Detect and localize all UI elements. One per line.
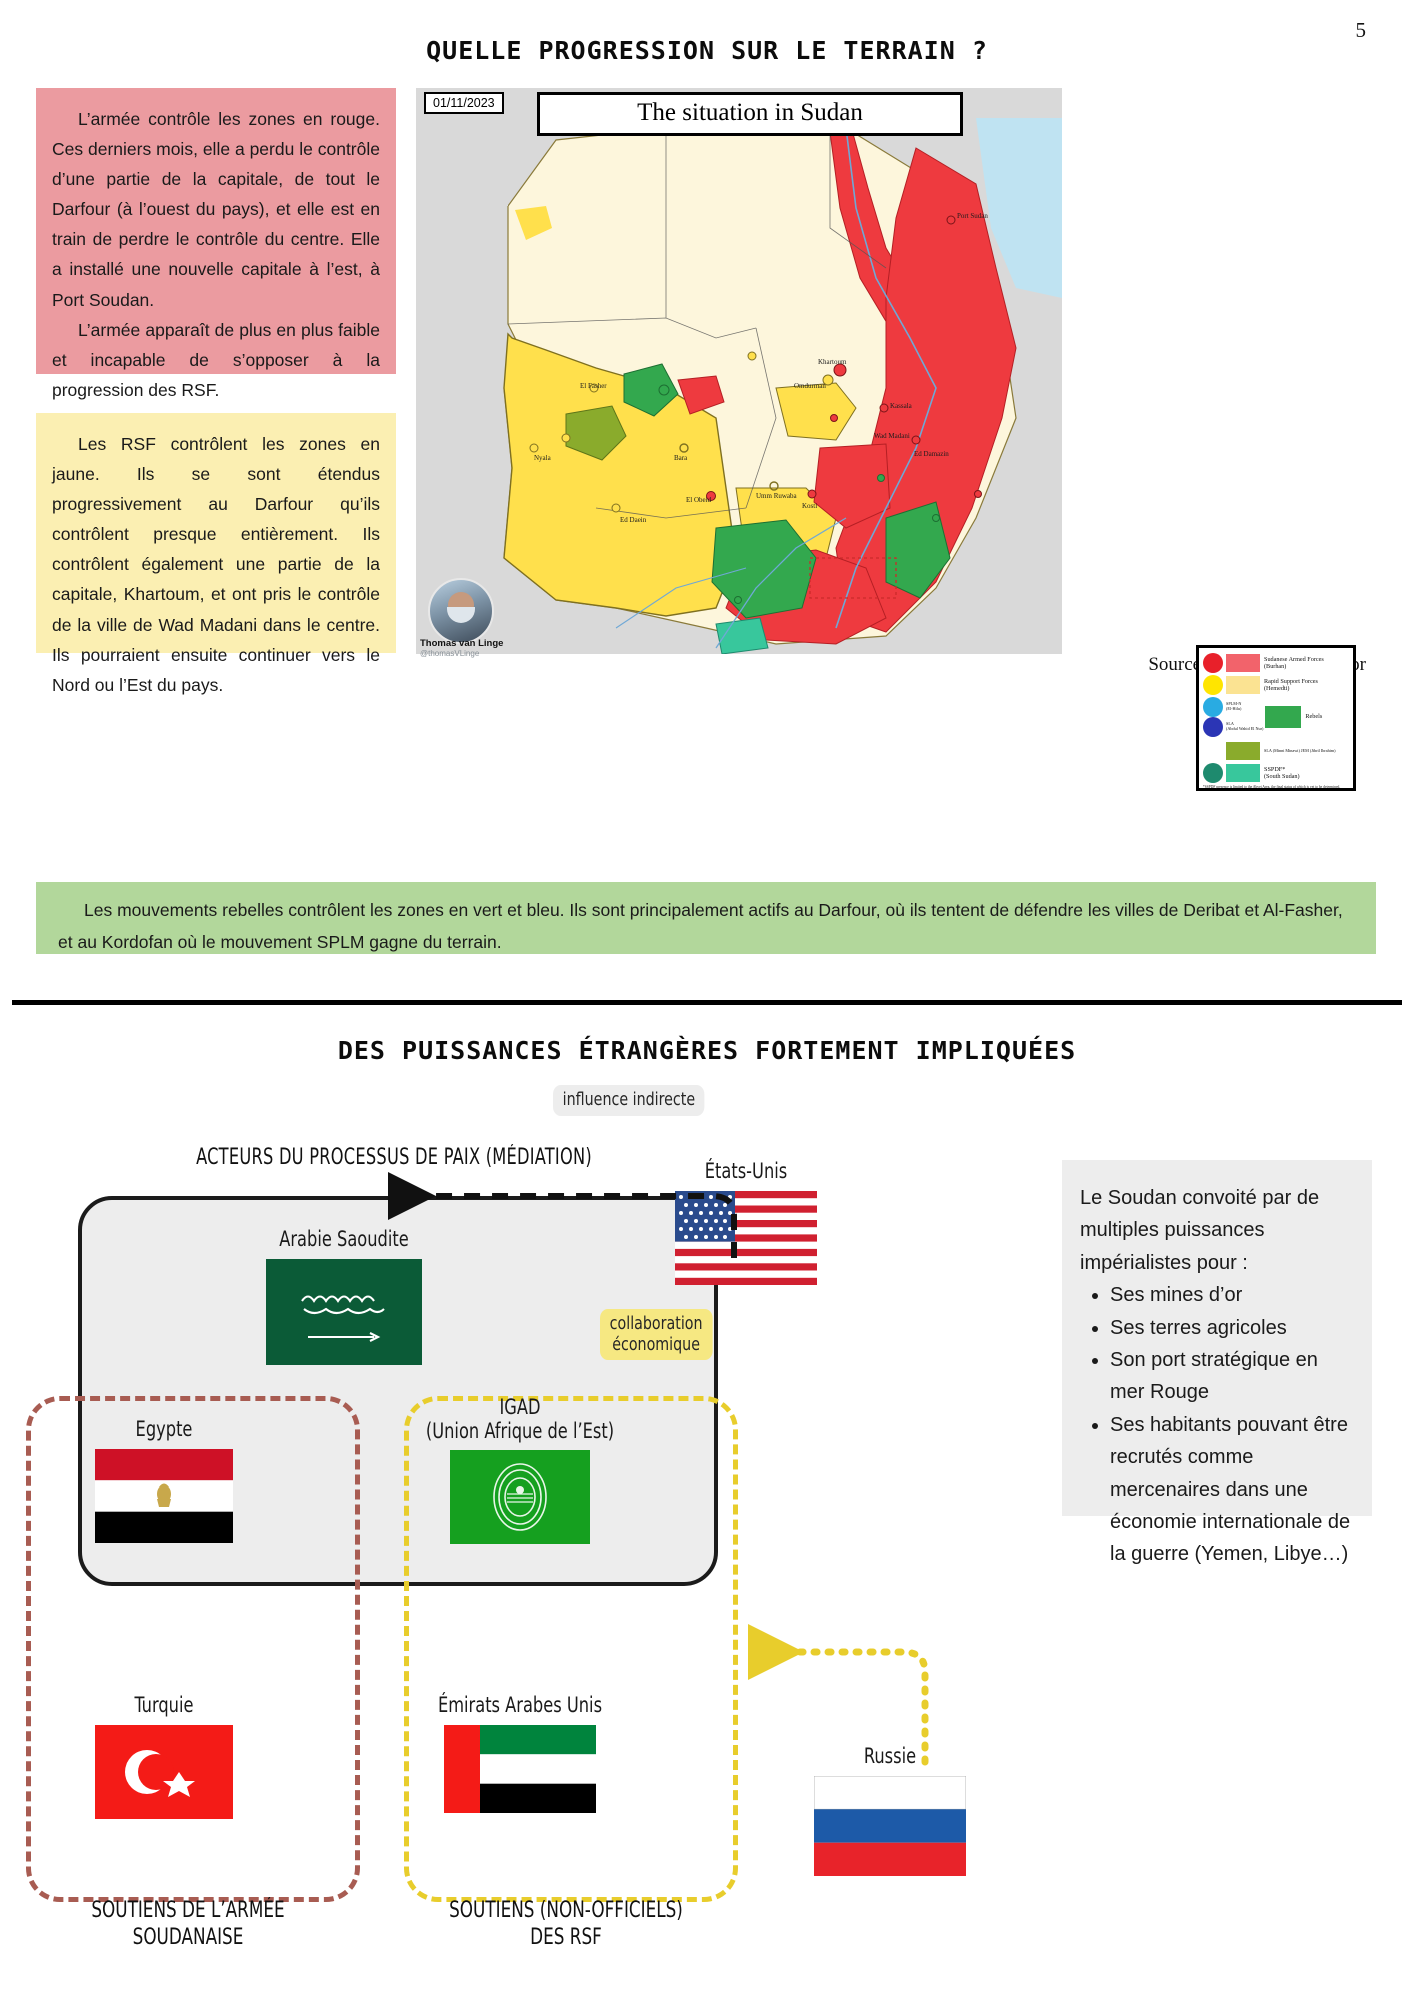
legend-row-sla-awn: SLA (Abdul Wahid El Nur)	[1203, 717, 1263, 737]
legend-sla-jem-title: SLA	[1264, 748, 1272, 753]
svg-text:Port Sudan: Port Sudan	[957, 212, 988, 220]
legend-dot-sla-awn	[1203, 717, 1223, 737]
sudan-situation-map[interactable]: Port Sudan Khartoum Omdurman Kassala Wad…	[416, 88, 1062, 654]
list-item: Son port stratégique en mer Rouge	[1110, 1344, 1356, 1409]
army-control-textbox: L’armée contrôle les zones en rouge. Ces…	[36, 88, 396, 374]
list-item: Ses terres agricoles	[1110, 1312, 1356, 1344]
legend-label-splmn: SPLM-N (El-Hilu)	[1226, 702, 1241, 712]
svg-text:Wad Madani: Wad Madani	[874, 432, 910, 440]
legend-label-sspdf: SSPDF* (South Sudan)	[1264, 766, 1300, 781]
list-item: Ses habitants pouvant être recrutés comm…	[1110, 1409, 1356, 1571]
nation-label-igad: IGAD (Union Afrique de l’Est)	[420, 1396, 620, 1443]
panel-bullet-list: Ses mines d’or Ses terres agricoles Son …	[1080, 1279, 1356, 1571]
avatar	[428, 578, 494, 644]
legend-swatch-sspdf	[1226, 764, 1260, 782]
svg-text:Kosti: Kosti	[802, 502, 817, 510]
section-divider	[12, 1000, 1402, 1005]
legend-label-sla-jem: SLA (Minni Minawi) JEM (Jibril Ibrahim)	[1264, 749, 1336, 754]
legend-sla-jem-sub: (Minni Minawi) JEM (Jibril Ibrahim)	[1273, 748, 1336, 753]
map-graphic: Port Sudan Khartoum Omdurman Kassala Wad…	[416, 88, 1062, 654]
list-item: Ses mines d’or	[1110, 1279, 1356, 1311]
flag-turkey-graphic	[95, 1725, 233, 1819]
army-supporters-caption: SOUTIENS DE L’ARMÉESOUDANAISE	[52, 1898, 324, 1952]
flag-russia	[814, 1776, 966, 1876]
map-author-handle: @thomasVLinge	[420, 649, 503, 658]
svg-text:Khartoum: Khartoum	[818, 358, 847, 366]
section2-title: DES PUISSANCES ÉTRANGÈRES FORTEMENT IMPL…	[0, 1036, 1414, 1065]
arrow-label-collaboration: collaboration économique	[600, 1309, 712, 1360]
svg-text:Kassala: Kassala	[890, 402, 913, 410]
map-legend: Sudanese Armed Forces (Burhan) Rapid Sup…	[1196, 645, 1356, 791]
legend-splmn-sub: (El-Hilu)	[1226, 706, 1241, 711]
flag-egypt-graphic	[95, 1449, 233, 1543]
map-title: The situation in Sudan	[537, 92, 963, 136]
rebels-control-textbox: Les mouvements rebelles contrôlent les z…	[36, 882, 1376, 954]
legend-label-rsf: Rapid Support Forces (Hemedti)	[1264, 678, 1318, 693]
legend-dot-rsf	[1203, 675, 1223, 695]
nation-saudi-arabia: Arabie Saoudite	[224, 1228, 464, 1365]
legend-footnote: *SSPDF presence is limited to the Abyei …	[1203, 785, 1349, 789]
legend-row-splmn: SPLM-N (El-Hilu)	[1203, 697, 1263, 717]
imperialist-interests-panel: Le Soudan convoité par de multiples puis…	[1062, 1160, 1372, 1516]
legend-row-sspdf: SSPDF* (South Sudan)	[1203, 763, 1349, 783]
legend-row-rsf: Rapid Support Forces (Hemedti)	[1203, 675, 1349, 695]
nation-usa: États-Unis	[620, 1160, 872, 1285]
avatar-mask	[447, 607, 475, 623]
legend-swatch-saf	[1226, 654, 1260, 672]
legend-swatch-sla-jem	[1226, 742, 1260, 760]
legend-sla-awn-sub: (Abdul Wahid El Nur)	[1226, 726, 1263, 731]
flag-usa-graphic	[675, 1191, 817, 1285]
legend-label-rebels: Rebels	[1305, 713, 1322, 720]
panel-intro: Le Soudan convoité par de multiples puis…	[1080, 1182, 1356, 1279]
nation-russia: Russie	[770, 1745, 1010, 1876]
svg-text:Umm Ruwaba: Umm Ruwaba	[756, 492, 798, 500]
mediation-caption: ACTEURS DU PROCESSUS DE PAIX (MÉDIATION)	[135, 1145, 653, 1170]
nation-label-usa: États-Unis	[638, 1160, 855, 1184]
legend-dot-sspdf	[1203, 763, 1223, 783]
legend-swatch-rebels	[1265, 706, 1301, 728]
rebels-control-paragraph: Les mouvements rebelles contrôlent les z…	[58, 900, 1343, 952]
legend-saf-title: Sudanese Armed Forces	[1264, 656, 1324, 663]
slide-page: 5 QUELLE PROGRESSION SUR LE TERRAIN ? L’…	[0, 0, 1414, 2000]
legend-rsf-title: Rapid Support Forces	[1264, 678, 1318, 685]
nation-egypt: Egypte	[78, 1418, 250, 1543]
svg-text:El Fasher: El Fasher	[580, 382, 607, 390]
nation-label-russia: Russie	[787, 1745, 993, 1769]
collab-line2: économique	[612, 1334, 700, 1355]
legend-rsf-sub: (Hemedti)	[1264, 685, 1289, 692]
flag-turkey	[95, 1725, 233, 1819]
nation-igad: IGAD (Union Afrique de l’Est)	[404, 1396, 636, 1544]
legend-label-saf: Sudanese Armed Forces (Burhan)	[1264, 656, 1324, 671]
flag-egypt	[95, 1449, 233, 1543]
rsf-control-textbox: Les RSF contrôlent les zones en jaune. I…	[36, 413, 396, 653]
igad-line2: (Union Afrique de l’Est)	[426, 1419, 614, 1443]
nation-uae: Émirats Arabes Unis	[384, 1694, 656, 1813]
flag-russia-graphic	[814, 1776, 966, 1876]
legend-sspdf-sub: (South Sudan)	[1264, 773, 1300, 780]
legend-row-rebels: SPLM-N (El-Hilu) SLA (Abdul Wahid El Nur…	[1203, 697, 1349, 737]
collab-line1: collaboration	[610, 1313, 703, 1334]
flag-usa	[675, 1191, 817, 1285]
arrow-label-influence: influence indirecte	[553, 1085, 705, 1116]
flag-saudi-arabia	[266, 1259, 422, 1365]
army-control-paragraph2: L’armée apparaît de plus en plus faible …	[52, 320, 380, 400]
svg-text:El Obeid: El Obeid	[686, 496, 712, 504]
map-author-name: Thomas van Linge	[420, 638, 503, 649]
nation-label-turkey: Turquie	[90, 1694, 238, 1718]
legend-label-sla-awn: SLA (Abdul Wahid El Nur)	[1226, 722, 1263, 732]
map-date-label: 01/11/2023	[424, 92, 504, 114]
legend-swatch-rsf	[1226, 676, 1260, 694]
flag-igad	[450, 1450, 590, 1544]
svg-text:Bara: Bara	[674, 454, 688, 462]
igad-line1: IGAD	[499, 1395, 540, 1419]
legend-saf-sub: (Burhan)	[1264, 663, 1286, 670]
svg-text:Ed Damazin: Ed Damazin	[914, 450, 949, 458]
legend-dot-saf	[1203, 653, 1223, 673]
flag-uae-graphic	[444, 1725, 596, 1813]
nation-label-saudi: Arabie Saoudite	[241, 1228, 447, 1252]
svg-text:Omdurman: Omdurman	[794, 382, 826, 390]
flag-igad-graphic	[450, 1450, 590, 1544]
legend-sspdf-title: SSPDF*	[1264, 766, 1285, 773]
nation-label-egypt: Egypte	[90, 1418, 238, 1442]
map-author: Thomas van Linge @thomasVLinge	[420, 638, 503, 658]
legend-dot-placeholder	[1203, 741, 1223, 761]
svg-text:Nyala: Nyala	[534, 454, 552, 462]
nation-label-uae: Émirats Arabes Unis	[403, 1694, 637, 1718]
rsf-supporters-caption: SOUTIENS (NON-OFFICIELS)DES RSF	[430, 1898, 702, 1952]
section1-title: QUELLE PROGRESSION SUR LE TERRAIN ?	[0, 36, 1414, 65]
svg-text:Ed Daein: Ed Daein	[620, 516, 647, 524]
nation-turkey: Turquie	[78, 1694, 250, 1819]
rsf-control-paragraph: Les RSF contrôlent les zones en jaune. I…	[52, 434, 380, 695]
legend-row-sla-jem: SLA (Minni Minawi) JEM (Jibril Ibrahim)	[1203, 741, 1349, 761]
flag-uae	[444, 1725, 596, 1813]
army-control-paragraph1: L’armée contrôle les zones en rouge. Ces…	[52, 109, 380, 310]
flag-saudi-graphic	[266, 1259, 422, 1365]
legend-dot-splmn	[1203, 697, 1223, 717]
legend-row-saf: Sudanese Armed Forces (Burhan)	[1203, 653, 1349, 673]
